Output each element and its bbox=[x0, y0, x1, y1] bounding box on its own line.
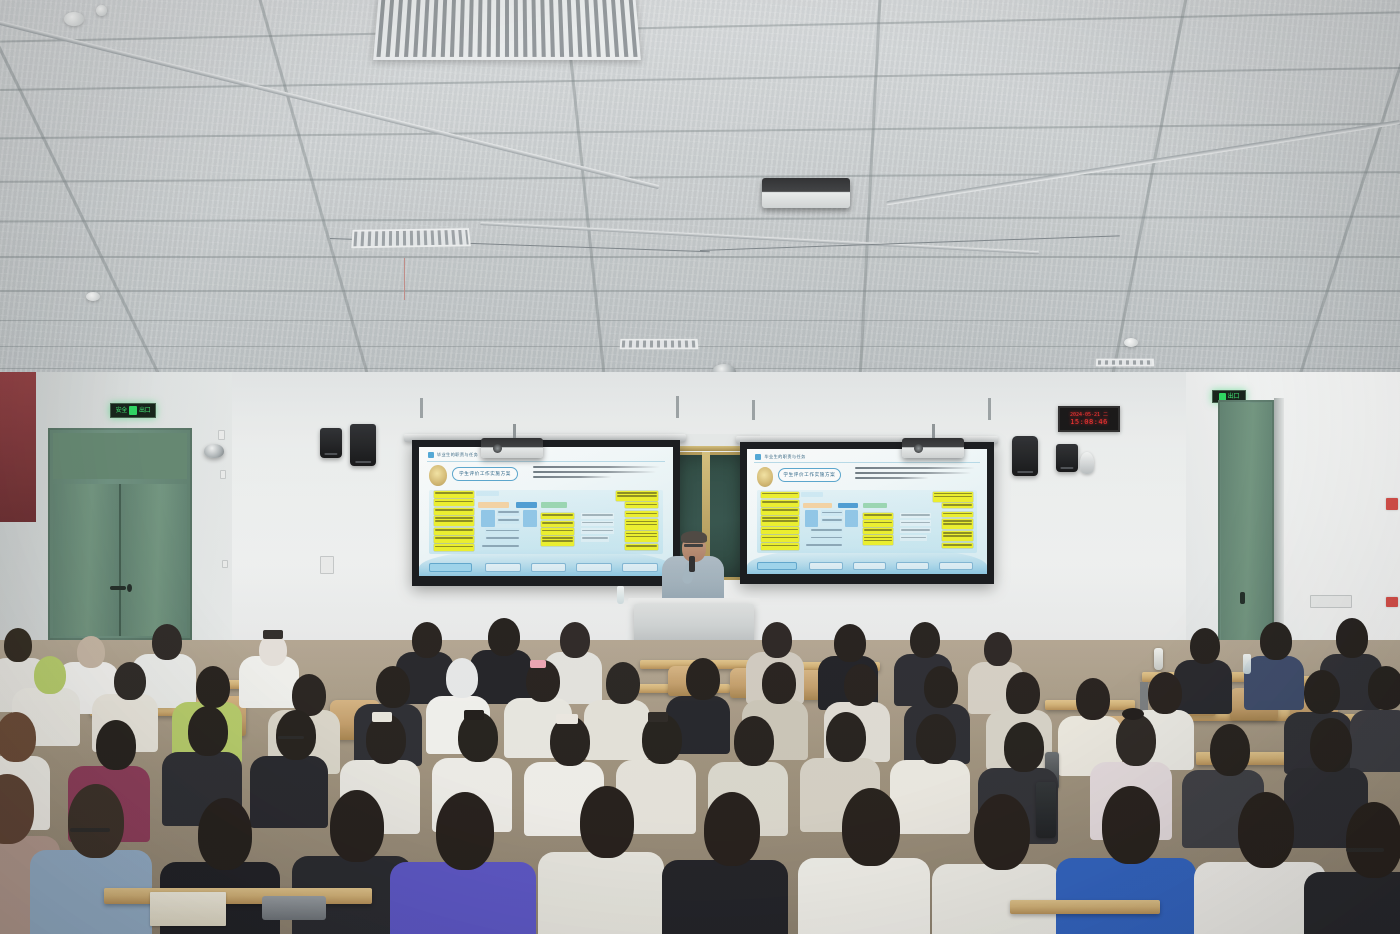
hvac-vent-small bbox=[1096, 359, 1154, 367]
diagram-orange-box bbox=[803, 503, 832, 508]
hair-clip bbox=[464, 710, 484, 720]
door-transom bbox=[53, 433, 187, 479]
smoke-detector bbox=[86, 292, 100, 301]
projection-screen-left: 毕业生的职责与任务 学生评价工作实施方案 bbox=[412, 440, 680, 586]
slide-header-text: 毕业生的职责与任务 bbox=[764, 454, 805, 460]
light-switch-panel[interactable] bbox=[320, 556, 334, 574]
diagram-light-box bbox=[481, 544, 521, 550]
person-head bbox=[276, 710, 316, 760]
diagram-yellow-box bbox=[434, 491, 474, 498]
person-torso bbox=[538, 852, 664, 934]
person-head bbox=[842, 788, 900, 866]
door-leaf[interactable] bbox=[1221, 403, 1271, 659]
slide-footer-button bbox=[622, 563, 658, 572]
wall-plate bbox=[220, 470, 226, 479]
slide-footer-button bbox=[939, 562, 973, 571]
screen-hanger bbox=[676, 396, 679, 418]
slide-bullet-icon bbox=[755, 454, 761, 460]
slide-emblem-icon bbox=[429, 465, 447, 486]
person-head bbox=[4, 628, 32, 662]
diagram-yellow-box bbox=[863, 513, 894, 519]
person-torso bbox=[662, 860, 788, 934]
diagram-blue-box bbox=[805, 510, 818, 526]
person-head bbox=[1148, 672, 1182, 714]
slide-footer-button bbox=[576, 563, 612, 572]
diagram-light-box bbox=[821, 510, 843, 516]
diagram-blue-box bbox=[845, 510, 858, 526]
eyeglasses bbox=[70, 828, 110, 832]
hair-clip bbox=[263, 630, 283, 639]
diagram-text-block bbox=[900, 528, 931, 534]
person-head bbox=[0, 712, 36, 762]
person-head bbox=[488, 618, 520, 656]
person-torso bbox=[470, 650, 532, 704]
slide-paragraph-left bbox=[533, 466, 660, 481]
slide-footer-button bbox=[757, 562, 798, 571]
person-head bbox=[1336, 618, 1368, 658]
diagram-light-box bbox=[476, 491, 499, 496]
eyeglasses bbox=[1346, 848, 1384, 852]
person-head bbox=[1076, 678, 1110, 720]
person-head bbox=[114, 662, 146, 700]
diagram-text-block bbox=[581, 528, 614, 534]
person-torso bbox=[1350, 710, 1400, 772]
diagram-yellow-box bbox=[863, 535, 894, 544]
slide-footer-button bbox=[485, 563, 521, 572]
wall-speaker-left-small bbox=[320, 428, 342, 458]
person-head bbox=[1310, 718, 1352, 772]
slide-title-text: 学生评价工作实施方案 bbox=[783, 472, 835, 478]
door-leaf-left[interactable] bbox=[53, 484, 119, 636]
diagram-green-box bbox=[863, 503, 887, 508]
person-head bbox=[1102, 786, 1160, 864]
door-center-seam bbox=[119, 484, 121, 636]
person-head bbox=[1006, 672, 1040, 714]
slide-title-pill-right: 学生评价工作实施方案 bbox=[778, 468, 840, 482]
diagram-yellow-box bbox=[942, 531, 973, 541]
ceiling-wire bbox=[404, 258, 405, 300]
person-head bbox=[1260, 622, 1292, 660]
person-torso bbox=[890, 760, 970, 834]
exit-sign-text-right-side: 出口 bbox=[1228, 394, 1239, 400]
lecture-hall-photo: 安全 出口 2024-05-21 二 15:08:46 出口 bbox=[0, 0, 1400, 934]
diagram-yellow-box bbox=[863, 528, 894, 534]
person-head bbox=[734, 716, 774, 766]
ceiling-seam bbox=[0, 320, 1400, 321]
person-head bbox=[1004, 722, 1044, 772]
right-exit-door[interactable] bbox=[1218, 400, 1274, 662]
thermos bbox=[1154, 648, 1163, 670]
person-head bbox=[916, 714, 956, 764]
person-torso bbox=[1174, 660, 1232, 714]
diagram-orange-box bbox=[478, 502, 508, 507]
ceiling-seam bbox=[0, 290, 1400, 292]
speaker-hair bbox=[681, 531, 707, 543]
diagram-text-block bbox=[900, 535, 926, 541]
diagram-yellow-box bbox=[942, 512, 973, 518]
diagram-yellow-box bbox=[434, 499, 474, 506]
slide-footer-button bbox=[531, 563, 567, 572]
person-head bbox=[924, 666, 958, 708]
diagram-yellow-box bbox=[541, 521, 574, 527]
person-head bbox=[984, 632, 1012, 666]
diagram-yellow-box bbox=[942, 503, 973, 509]
ceiling-seam bbox=[0, 346, 1400, 347]
hvac-vent-small bbox=[351, 228, 471, 248]
diagram-light-box bbox=[485, 528, 520, 534]
bullet-camera-right bbox=[1080, 452, 1094, 474]
left-wall-red-accent bbox=[0, 372, 36, 522]
diagram-yellow-box bbox=[933, 492, 973, 502]
diagram-yellow-box bbox=[761, 535, 799, 542]
diagram-yellow-box bbox=[761, 543, 799, 550]
person-head bbox=[606, 662, 640, 704]
ceiling bbox=[0, 0, 1400, 400]
dome-camera-left-wall bbox=[204, 444, 224, 458]
door-handle[interactable] bbox=[110, 586, 126, 590]
diagram-yellow-box bbox=[434, 516, 474, 526]
person-head bbox=[1210, 724, 1250, 776]
slide-header-rule bbox=[427, 461, 666, 462]
person-head bbox=[580, 786, 634, 858]
person-head bbox=[188, 706, 228, 756]
slide-footer-button bbox=[809, 562, 843, 571]
person-torso bbox=[932, 864, 1060, 934]
slide-footer-button bbox=[853, 562, 887, 571]
diagram-light-box bbox=[805, 543, 843, 549]
projector-left bbox=[481, 438, 543, 458]
person-head bbox=[376, 666, 410, 708]
diagram-light-box bbox=[821, 518, 843, 524]
person-head bbox=[96, 720, 136, 770]
projector-right bbox=[902, 438, 964, 458]
person-head bbox=[826, 712, 866, 762]
running-man-icon bbox=[129, 406, 137, 415]
water-bottle bbox=[1243, 654, 1251, 674]
diagram-yellow-box bbox=[761, 508, 799, 515]
diagram-light-box bbox=[497, 518, 520, 524]
screen-hanger bbox=[752, 400, 755, 420]
foreground-desk bbox=[1010, 900, 1160, 914]
diagram-text-block bbox=[900, 513, 931, 519]
water-bottle-on-podium bbox=[617, 586, 624, 604]
screen-hanger bbox=[420, 398, 423, 418]
slide-paragraph-right bbox=[855, 467, 975, 482]
diagram-text-block bbox=[900, 520, 931, 526]
ceiling-seam bbox=[0, 368, 1400, 369]
diagram-green-box bbox=[541, 502, 567, 507]
person-torso bbox=[1304, 872, 1400, 934]
person-head bbox=[686, 658, 720, 700]
projector-lens bbox=[493, 444, 502, 453]
exit-sign-left: 安全 出口 bbox=[110, 403, 156, 418]
person-head bbox=[974, 794, 1030, 870]
person-head bbox=[560, 622, 590, 658]
diagram-yellow-box bbox=[434, 508, 474, 515]
ceiling-projector bbox=[762, 178, 850, 208]
diagram-light-box bbox=[497, 510, 520, 516]
slide-footer-button bbox=[896, 562, 930, 571]
diagram-yellow-box bbox=[942, 519, 973, 529]
diagram-blue-box bbox=[523, 510, 537, 527]
person-head bbox=[704, 792, 760, 866]
slide-right: 毕业生的职责与任务 学生评价工作实施方案 bbox=[747, 449, 987, 574]
slide-header-rule bbox=[754, 462, 980, 463]
ceiling-panel-texture bbox=[0, 0, 1400, 400]
slide-title-text: 学生评价工作实施方案 bbox=[459, 471, 511, 477]
person-head bbox=[77, 636, 105, 668]
hair-clip bbox=[556, 714, 578, 724]
slide-emblem-icon bbox=[757, 467, 774, 487]
person-head bbox=[330, 790, 384, 862]
exit-sign-text-right: 出口 bbox=[139, 408, 150, 414]
diagram-text-block bbox=[581, 536, 609, 542]
diagram-yellow-box bbox=[761, 527, 799, 534]
wall-plate bbox=[222, 560, 228, 568]
person-head bbox=[1304, 670, 1340, 714]
person-head bbox=[198, 798, 252, 870]
person-torso bbox=[390, 862, 536, 934]
slide-diagram-area-right bbox=[757, 490, 978, 553]
handheld-microphone[interactable] bbox=[689, 556, 695, 572]
pencil-case bbox=[262, 896, 326, 920]
light-switch-panel[interactable] bbox=[1310, 595, 1352, 608]
slide-header-right: 毕业生的职责与任务 bbox=[755, 454, 805, 460]
thermos bbox=[1036, 782, 1056, 838]
left-exit-door[interactable] bbox=[48, 428, 192, 640]
person-head bbox=[196, 666, 230, 708]
slide-diagram-area-left bbox=[429, 490, 663, 555]
person-head bbox=[1238, 792, 1294, 868]
diagram-node-box bbox=[838, 503, 858, 508]
diagram-yellow-box bbox=[541, 513, 574, 519]
diagram-yellow-box bbox=[625, 531, 658, 541]
projector-lens bbox=[914, 444, 923, 453]
person-head bbox=[68, 784, 124, 858]
diagram-yellow-box bbox=[625, 502, 658, 508]
hair-clip bbox=[648, 712, 668, 722]
fire-alarm-button[interactable] bbox=[1386, 597, 1398, 607]
diagram-yellow-box bbox=[434, 528, 474, 535]
hair-clip bbox=[372, 712, 392, 722]
person-head bbox=[436, 792, 494, 870]
person-head bbox=[1190, 628, 1220, 664]
person-head bbox=[1116, 714, 1156, 766]
fire-alarm-button[interactable] bbox=[1386, 498, 1398, 510]
diagram-text-block bbox=[581, 521, 614, 527]
diagram-blue-box bbox=[481, 510, 495, 527]
wall-plate bbox=[218, 430, 225, 440]
desk-support bbox=[1140, 682, 1148, 712]
door-handle[interactable] bbox=[1240, 592, 1245, 604]
notebook bbox=[150, 892, 226, 926]
wall-speaker-right-large bbox=[1012, 436, 1038, 476]
ceiling-seam bbox=[0, 256, 1400, 258]
wall-speaker-right-small bbox=[1056, 444, 1078, 472]
slide-footer-button bbox=[429, 563, 472, 572]
slide-header-left: 毕业生的职责与任务 bbox=[428, 452, 478, 458]
diagram-yellow-box bbox=[541, 528, 574, 534]
slide-left: 毕业生的职责与任务 学生评价工作实施方案 bbox=[419, 447, 673, 576]
hvac-vent-large bbox=[373, 0, 641, 60]
diagram-text-block bbox=[581, 513, 614, 519]
slide-header-text: 毕业生的职责与任务 bbox=[437, 452, 478, 458]
person-head bbox=[1346, 802, 1400, 878]
diagram-yellow-box bbox=[761, 516, 799, 526]
slide-bullet-icon bbox=[428, 452, 434, 458]
projection-screen-right: 毕业生的职责与任务 学生评价工作实施方案 bbox=[740, 442, 994, 584]
person-head bbox=[762, 662, 796, 704]
person-head bbox=[1368, 666, 1400, 710]
exit-sign-text-left: 安全 bbox=[116, 408, 127, 414]
slide-title-pill-left: 学生评价工作实施方案 bbox=[452, 467, 518, 481]
diagram-light-box bbox=[485, 536, 520, 542]
door-handle[interactable] bbox=[127, 584, 132, 592]
person-torso bbox=[1056, 858, 1196, 934]
smoke-detector bbox=[64, 12, 84, 26]
smoke-detector bbox=[96, 5, 107, 16]
hvac-vent-small bbox=[620, 339, 699, 349]
wall-speaker-left-large bbox=[350, 424, 376, 466]
hair-bun bbox=[1122, 708, 1144, 720]
person-head bbox=[910, 622, 940, 658]
diagram-yellow-box bbox=[616, 491, 658, 501]
smoke-detector bbox=[1124, 338, 1138, 347]
person-head bbox=[446, 658, 478, 698]
diagram-light-box bbox=[801, 492, 823, 497]
speaker-glasses bbox=[684, 544, 703, 547]
diagram-node-box bbox=[516, 502, 537, 507]
diagram-yellow-box bbox=[761, 492, 799, 499]
person-torso bbox=[584, 700, 650, 760]
foreground-desk bbox=[104, 888, 372, 904]
person-head bbox=[412, 622, 442, 658]
person-torso bbox=[1244, 656, 1304, 710]
diagram-yellow-box bbox=[541, 536, 574, 546]
diagram-yellow-box bbox=[942, 543, 973, 549]
diagram-yellow-box bbox=[625, 519, 658, 529]
hair-clip bbox=[530, 660, 546, 668]
diagram-yellow-box bbox=[625, 511, 658, 517]
eyeglasses bbox=[278, 736, 304, 739]
person-head bbox=[834, 624, 866, 662]
led-clock-time: 15:08:46 bbox=[1070, 419, 1108, 426]
led-clock-display: 2024-05-21 二 15:08:46 bbox=[1058, 406, 1120, 432]
person-head bbox=[762, 622, 792, 658]
diagram-yellow-box bbox=[863, 520, 894, 526]
diagram-yellow-box bbox=[625, 544, 658, 550]
diagram-light-box bbox=[810, 528, 843, 534]
diagram-yellow-box bbox=[761, 500, 799, 507]
person-head bbox=[844, 664, 878, 706]
diagram-yellow-box bbox=[434, 536, 474, 543]
person-head bbox=[34, 656, 66, 694]
door-leaf-right[interactable] bbox=[121, 484, 187, 636]
diagram-light-box bbox=[810, 535, 843, 541]
person-torso bbox=[250, 756, 328, 828]
person-torso bbox=[798, 858, 930, 934]
person-head bbox=[152, 624, 182, 660]
led-clock-date: 2024-05-21 二 bbox=[1070, 413, 1108, 418]
diagram-yellow-box bbox=[434, 544, 474, 551]
screen-hanger bbox=[988, 398, 991, 420]
